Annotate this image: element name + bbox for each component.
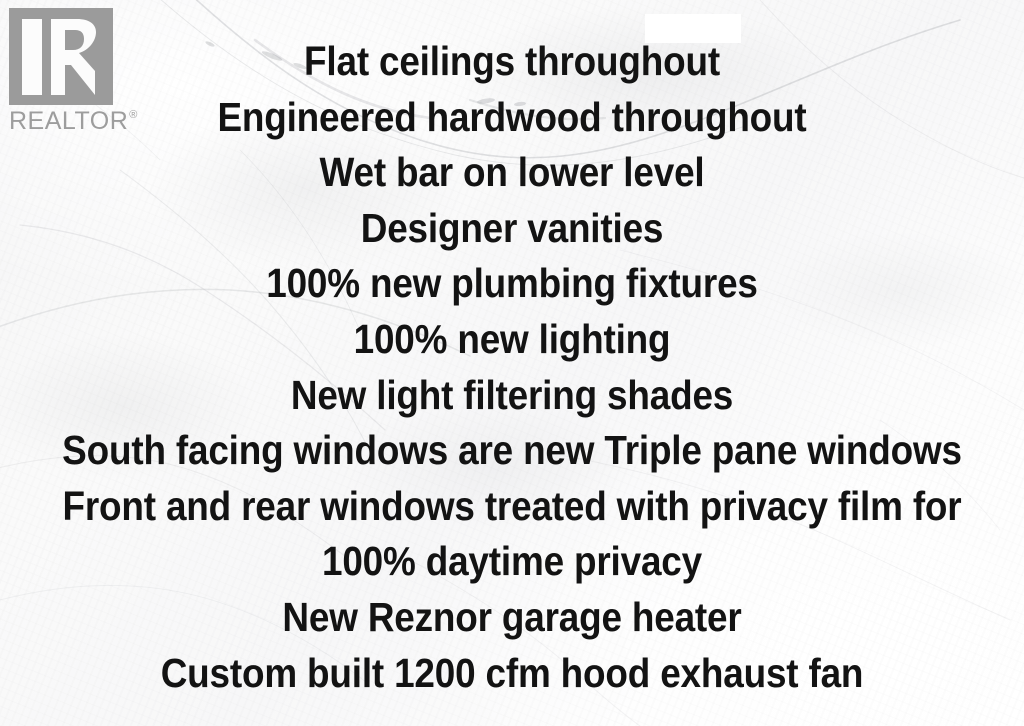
feature-line: Wet bar on lower level	[51, 145, 973, 201]
feature-line: Custom built 1200 cfm hood exhaust fan	[51, 646, 973, 702]
feature-line: New Reznor garage heater	[51, 590, 973, 646]
feature-list: Flat ceilings throughout Engineered hard…	[0, 0, 1024, 726]
feature-line: South facing windows are new Triple pane…	[51, 423, 973, 479]
realtor-r-mark-icon	[9, 8, 113, 105]
realtor-wordmark: REALTOR®	[9, 109, 121, 134]
feature-line: Flat ceilings throughout	[51, 34, 973, 90]
white-box-overlay	[645, 14, 741, 43]
feature-line: New light filtering shades	[51, 368, 973, 424]
realtor-logo: REALTOR®	[9, 8, 121, 140]
registered-trademark-icon: ®	[129, 110, 138, 121]
feature-line: Designer vanities	[51, 201, 973, 257]
realtor-wordmark-text: REALTOR	[9, 109, 128, 134]
feature-line: Front and rear windows treated with priv…	[51, 479, 973, 535]
feature-line: 100% new lighting	[51, 312, 973, 368]
feature-line: 100% new plumbing fixtures	[51, 256, 973, 312]
feature-line: 100% daytime privacy	[51, 534, 973, 590]
listing-feature-card: REALTOR® Flat ceilings throughout Engine…	[0, 0, 1024, 726]
feature-line: Engineered hardwood throughout	[51, 90, 973, 146]
